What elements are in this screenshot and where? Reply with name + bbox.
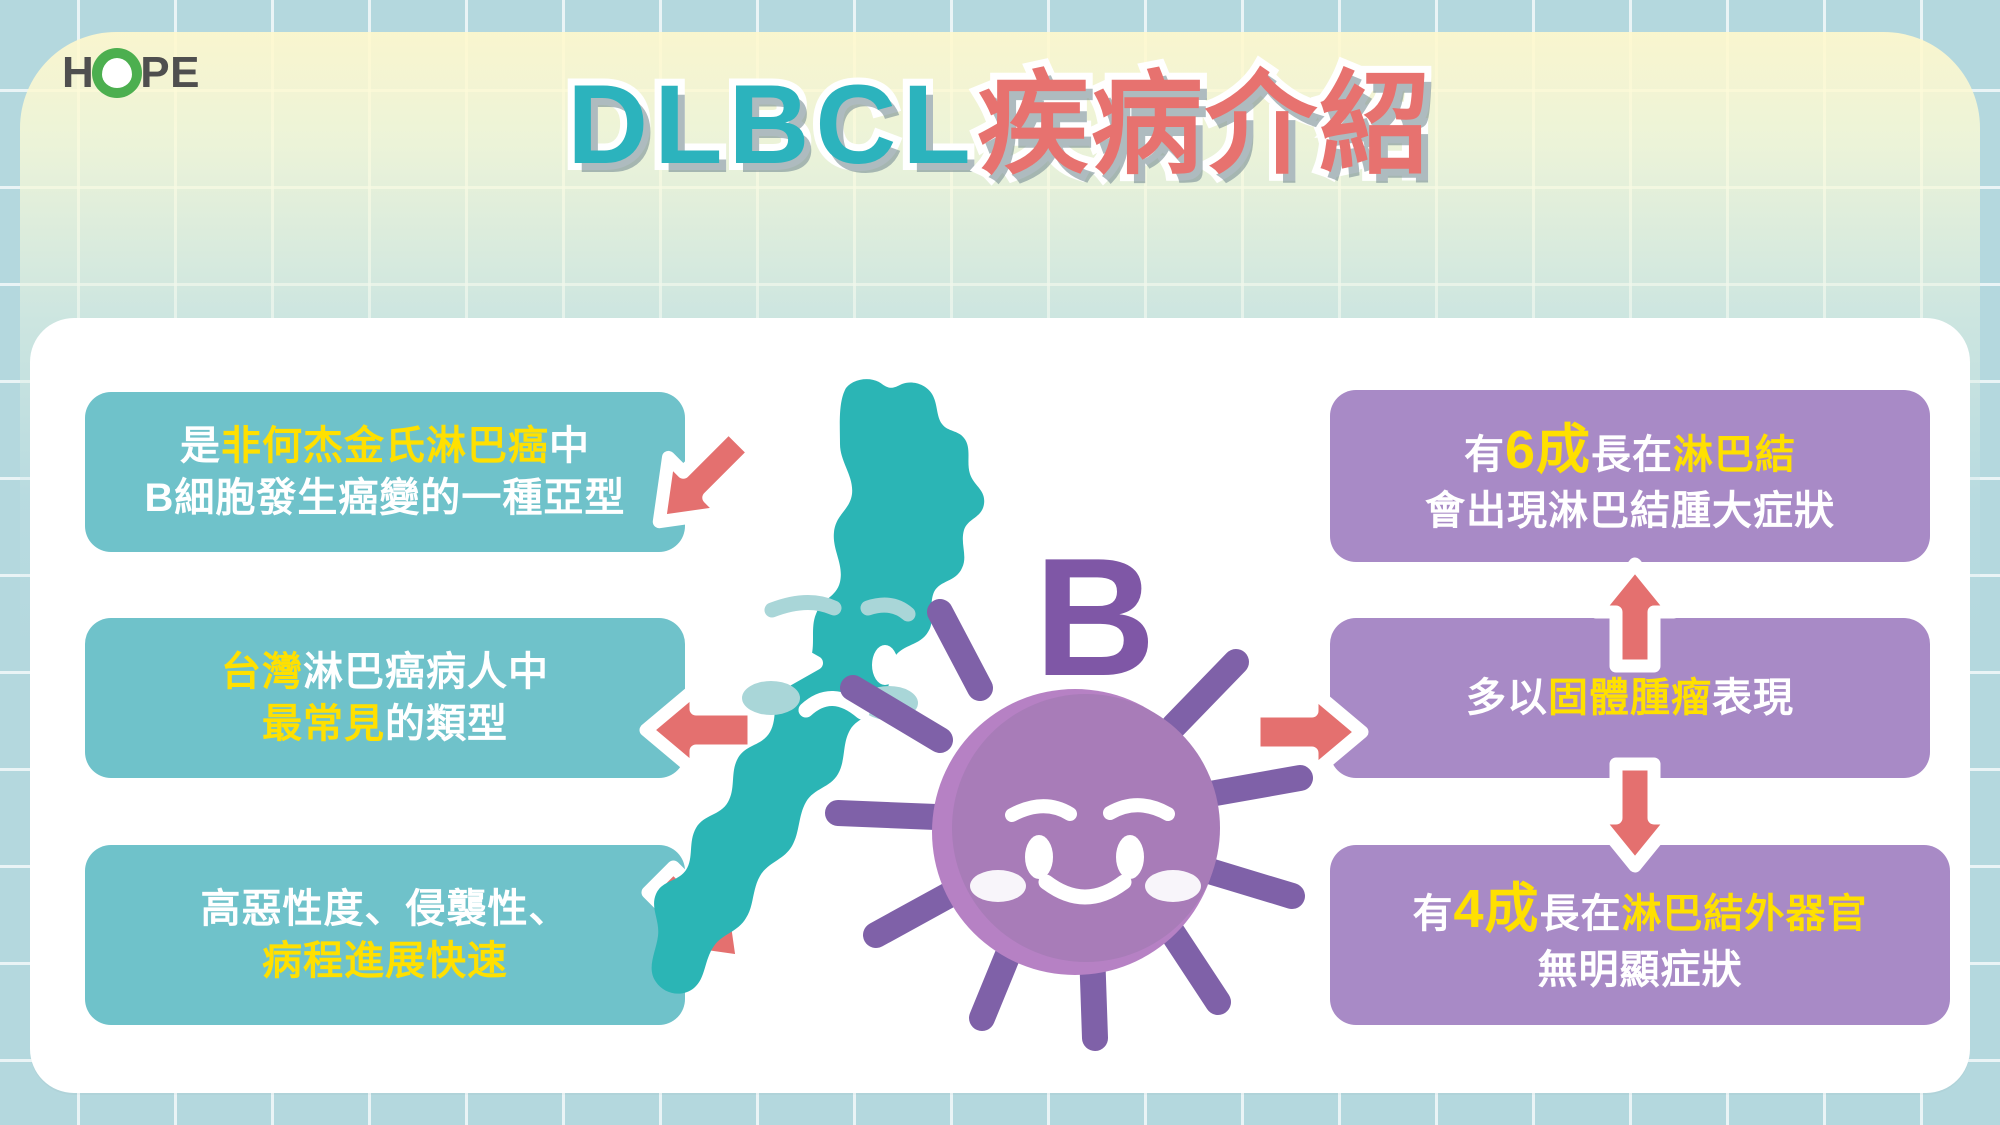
text-segment: 的類型 xyxy=(385,702,508,746)
text-segment: B細胞發生癌變的一種亞型 xyxy=(145,476,626,520)
info-box-lymph-node-60[interactable]: 有6成長在淋巴結 會出現淋巴結腫大症狀 xyxy=(1330,390,1930,562)
text-segment: 淋巴癌病人中 xyxy=(303,650,549,694)
info-line: 是非何杰金氏淋巴癌中 xyxy=(180,420,590,472)
text-segment: 台灣 xyxy=(221,650,303,694)
info-line: 無明顯症狀 xyxy=(1538,944,1743,996)
text-segment: 中 xyxy=(549,424,590,468)
arrow-to-extranodal-40-icon xyxy=(1580,760,1690,870)
info-line: 有6成長在淋巴結 xyxy=(1464,415,1796,485)
text-segment: 病程進展快速 xyxy=(262,939,508,983)
text-segment: 高惡性度、侵襲性、 xyxy=(201,887,570,931)
title-chinese: 疾病介紹 xyxy=(977,66,1433,184)
text-segment: 無明顯症狀 xyxy=(1538,948,1743,992)
info-box-aggressiveness[interactable]: 高惡性度、侵襲性、 病程進展快速 xyxy=(85,845,685,1025)
info-line: 會出現淋巴結腫大症狀 xyxy=(1425,485,1835,537)
central-illustration: B xyxy=(640,370,1360,1070)
text-segment: 有 xyxy=(1464,433,1505,477)
info-line: 病程進展快速 xyxy=(262,935,508,987)
virus-letter-b: B xyxy=(1034,523,1155,711)
text-segment: 長在 xyxy=(1591,433,1673,477)
info-box-extranodal-40[interactable]: 有4成長在淋巴結外器官 無明顯症狀 xyxy=(1330,845,1950,1025)
info-line: 最常見的類型 xyxy=(262,698,508,750)
info-line: 有4成長在淋巴結外器官 xyxy=(1412,874,1867,944)
info-box-most-common-type[interactable]: 台灣淋巴癌病人中 最常見的類型 xyxy=(85,618,685,778)
text-segment: 固體腫瘤 xyxy=(1548,676,1712,720)
text-segment: 有 xyxy=(1412,892,1453,936)
text-segment: 長在 xyxy=(1540,892,1622,936)
info-box-subtype[interactable]: 是非何杰金氏淋巴癌中 B細胞發生癌變的一種亞型 xyxy=(85,392,685,552)
text-segment: 表現 xyxy=(1712,676,1794,720)
title-english: DLBCL xyxy=(567,66,976,184)
page-title: DLBCL疾病介紹 xyxy=(0,66,2000,184)
text-segment: 非何杰金氏淋巴癌 xyxy=(221,424,549,468)
text-segment: 是 xyxy=(180,424,221,468)
text-segment: 會出現淋巴結腫大症狀 xyxy=(1425,489,1835,533)
text-segment: 多以 xyxy=(1466,676,1548,720)
text-segment: 淋巴結 xyxy=(1673,433,1796,477)
text-segment: 最常見 xyxy=(262,702,385,746)
text-segment: 6成 xyxy=(1505,420,1591,480)
info-line: 高惡性度、侵襲性、 xyxy=(201,883,570,935)
text-segment: 淋巴結外器官 xyxy=(1622,892,1868,936)
info-line: 台灣淋巴癌病人中 xyxy=(221,646,549,698)
text-segment: 4成 xyxy=(1453,879,1539,939)
arrow-to-lymph-node-60-icon xyxy=(1580,560,1690,670)
info-line: B細胞發生癌變的一種亞型 xyxy=(145,472,626,524)
info-line: 多以固體腫瘤表現 xyxy=(1466,672,1794,724)
